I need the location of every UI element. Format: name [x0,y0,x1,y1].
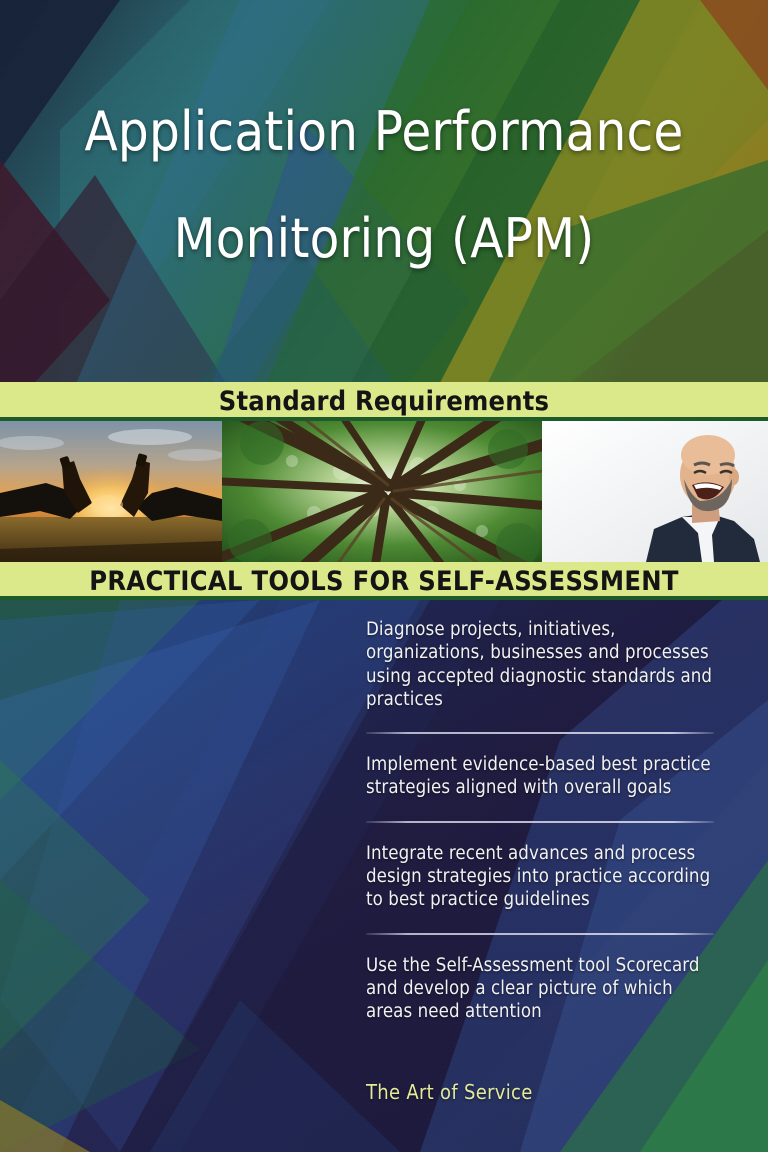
bullet-list: Diagnose projects, initiatives, organiza… [366,618,714,1104]
photo-beer-bottles-sunset [0,421,222,562]
bullet-item-3: Integrate recent advances and process de… [366,842,714,912]
title-line-1: Application Performance [48,104,720,159]
photo-forest-canopy [222,421,542,562]
publisher-name: The Art of Service [366,1080,714,1104]
bullet-divider [366,821,714,823]
bullet-divider [366,732,714,734]
tagline-banner: PRACTICAL TOOLS FOR SELF-ASSESSMENT [0,562,768,600]
subtitle-banner-label: Standard Requirements [219,386,549,417]
title-line-2: Monitoring (APM) [48,211,720,266]
photo-laughing-businessman [542,421,768,562]
bullet-item-2: Implement evidence-based best practice s… [366,753,714,800]
photo-strip [0,421,768,562]
subtitle-banner: Standard Requirements [0,382,768,421]
bullet-divider [366,933,714,935]
bullet-item-1: Diagnose projects, initiatives, organiza… [366,618,714,711]
book-cover: Application Performance Monitoring (APM)… [0,0,768,1152]
bullet-item-4: Use the Self-Assessment tool Scorecard a… [366,954,714,1024]
tagline-banner-label: PRACTICAL TOOLS FOR SELF-ASSESSMENT [89,566,679,597]
page-title: Application Performance Monitoring (APM) [0,104,768,266]
